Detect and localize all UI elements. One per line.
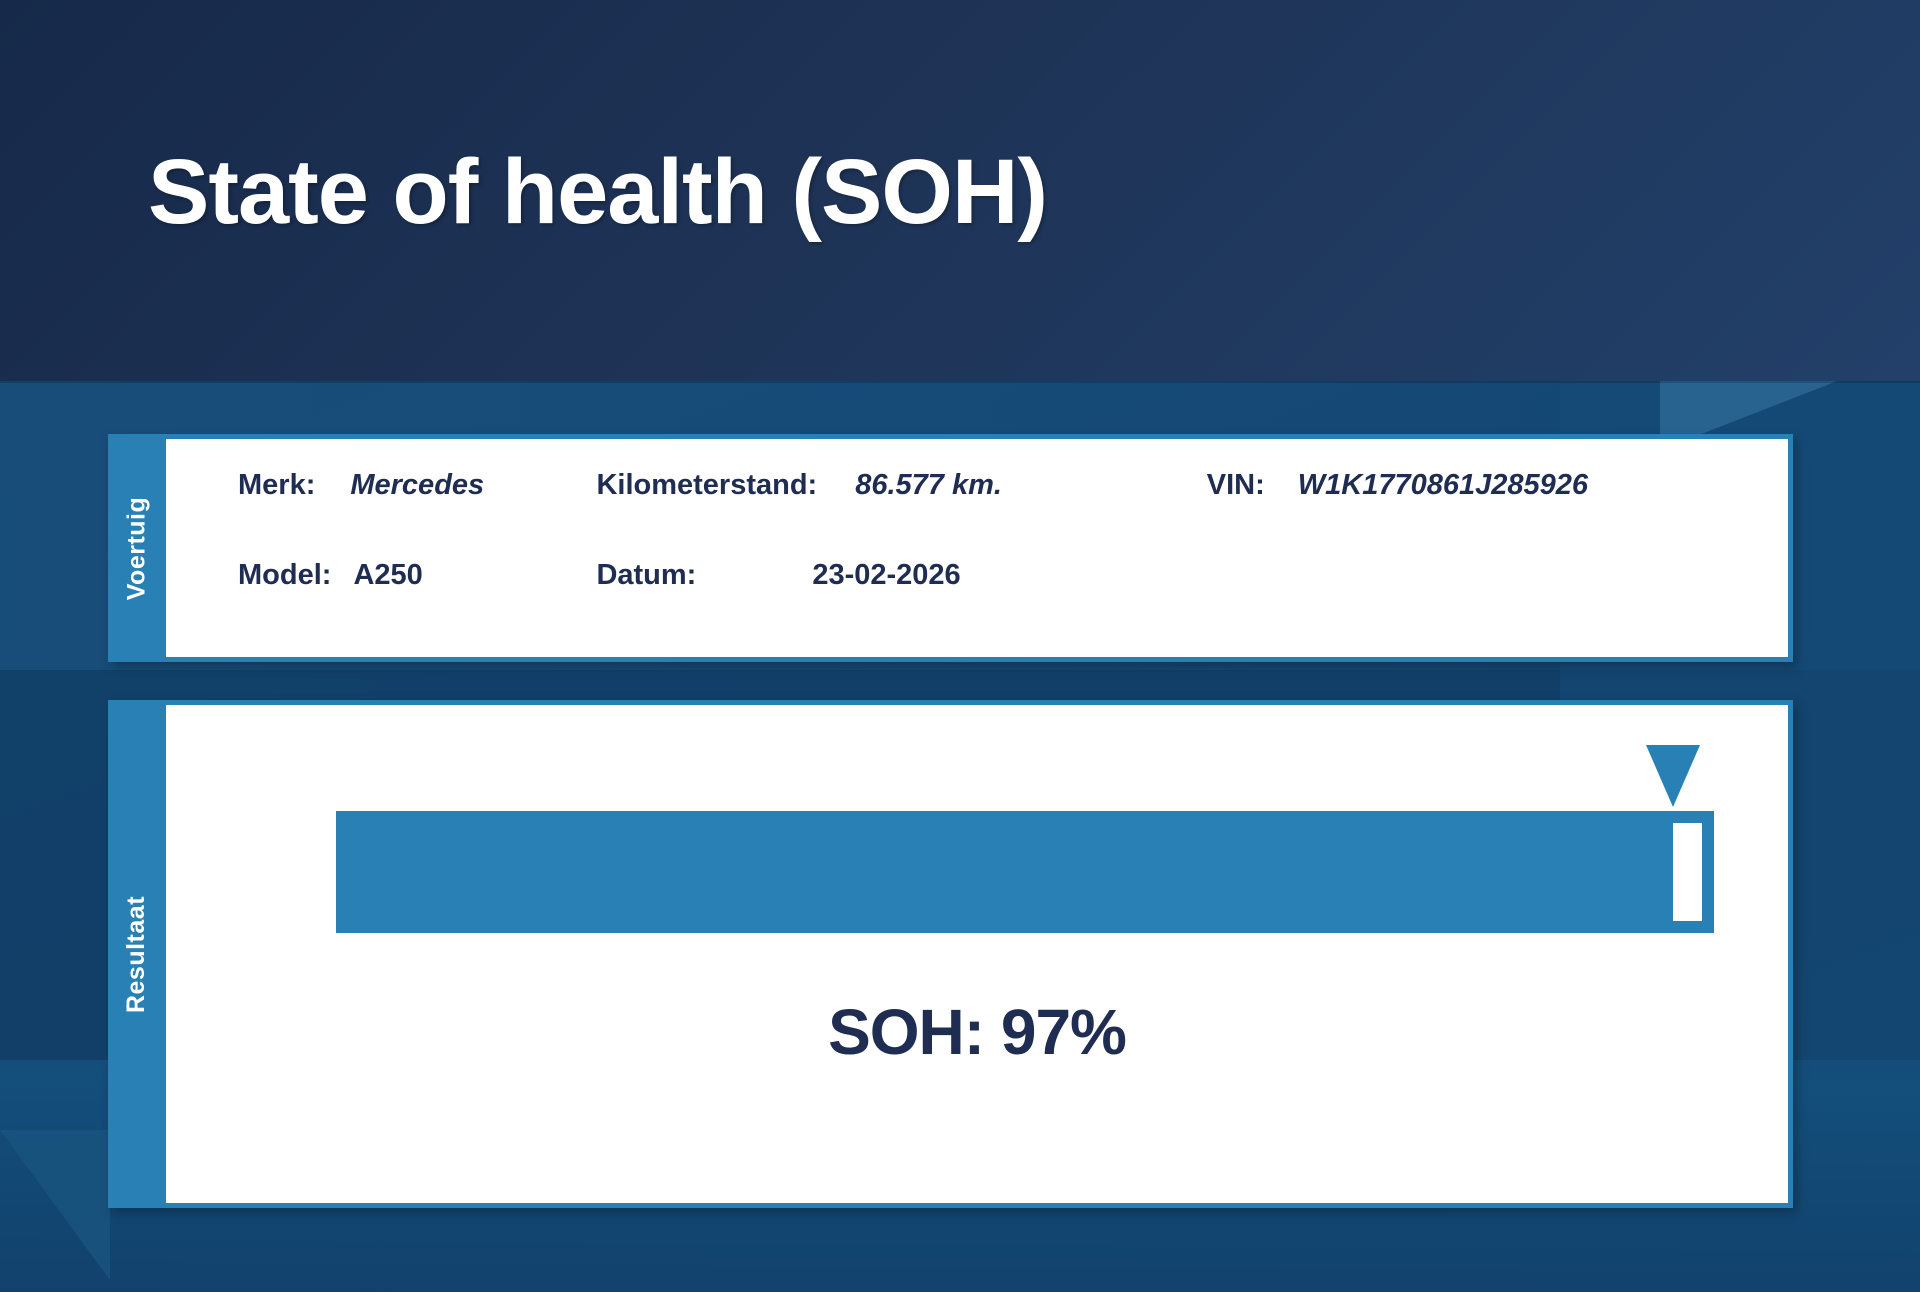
field-model: Model: A250 bbox=[238, 559, 596, 592]
field-vin-label: VIN: bbox=[1207, 469, 1265, 502]
field-datum: Datum: 23-02-2026 bbox=[596, 559, 1206, 592]
field-kilometerstand: Kilometerstand: 86.577 km. bbox=[596, 469, 1206, 502]
field-vin-value: W1K1770861J285926 bbox=[1298, 469, 1588, 502]
field-merk: Merk: Mercedes bbox=[238, 469, 596, 502]
field-kilometerstand-value: 86.577 km. bbox=[855, 469, 1002, 502]
soh-progress-remainder bbox=[1673, 811, 1714, 933]
soh-progress-fill bbox=[336, 811, 1673, 933]
field-merk-label: Merk: bbox=[238, 469, 315, 502]
field-datum-label: Datum: bbox=[596, 559, 696, 592]
field-datum-value: 23-02-2026 bbox=[812, 559, 960, 592]
header-banner: State of health (SOH) bbox=[0, 0, 1920, 381]
vehicle-info-body: Merk: Mercedes Kilometerstand: 86.577 km… bbox=[166, 434, 1793, 662]
soh-readout-value: SOH: 97% bbox=[166, 995, 1788, 1069]
tab-voertuig[interactable]: Voertuig bbox=[108, 434, 166, 662]
field-model-label: Model: bbox=[238, 559, 331, 592]
tab-resultaat[interactable]: Resultaat bbox=[108, 700, 166, 1208]
page-title: State of health (SOH) bbox=[148, 140, 1047, 245]
field-model-value: A250 bbox=[353, 559, 422, 592]
slide-canvas: State of health (SOH) Voertuig Merk: Mer… bbox=[0, 0, 1920, 1292]
triangle-down-marker-icon bbox=[1646, 745, 1700, 807]
soh-progress-bar bbox=[336, 811, 1714, 933]
decorative-diagonal-bottom-left bbox=[0, 1130, 110, 1280]
vehicle-info-row-1: Merk: Mercedes Kilometerstand: 86.577 km… bbox=[238, 469, 1788, 559]
result-card: Resultaat SOH: 97% bbox=[108, 700, 1793, 1208]
tab-voertuig-label: Voertuig bbox=[123, 496, 152, 600]
field-vin: VIN: W1K1770861J285926 bbox=[1207, 469, 1788, 502]
vehicle-info-row-2: Model: A250 Datum: 23-02-2026 bbox=[238, 559, 1788, 649]
field-kilometerstand-label: Kilometerstand: bbox=[596, 469, 817, 502]
field-merk-value: Mercedes bbox=[350, 469, 484, 502]
tab-resultaat-label: Resultaat bbox=[123, 895, 152, 1012]
vehicle-info-grid: Merk: Mercedes Kilometerstand: 86.577 km… bbox=[166, 439, 1788, 657]
soh-chart: SOH: 97% bbox=[166, 705, 1788, 1203]
vehicle-info-card: Voertuig Merk: Mercedes Kilometerstand: … bbox=[108, 434, 1793, 662]
result-body: SOH: 97% bbox=[166, 700, 1793, 1208]
